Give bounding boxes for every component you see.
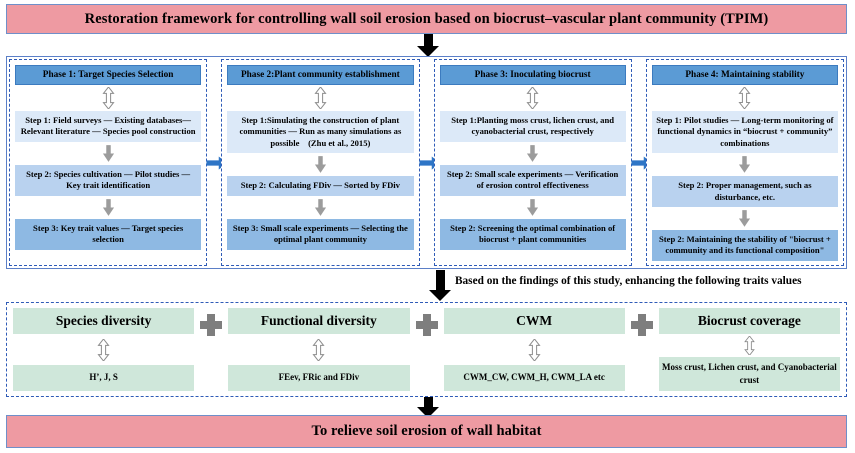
arrow-phases-to-traits: [428, 270, 452, 301]
double-arrow-icon: [528, 339, 541, 361]
diagram-canvas: Restoration framework for controlling wa…: [0, 0, 855, 453]
plus-separator-1: [194, 308, 228, 391]
double-arrow-icon: [738, 87, 751, 109]
phase-3-step-2: Step 2: Small scale experiments — Verifi…: [440, 165, 626, 196]
plus-separator-2: [410, 308, 444, 391]
trait-body: Moss crust, Lichen crust, and Cyanobacte…: [659, 357, 840, 391]
phase-4-step-3: Step 2: Maintaining the stability of "bi…: [652, 230, 838, 261]
plus-icon: [631, 314, 653, 336]
trait-column-biocrust-coverage: Biocrust coverage Moss crust, Lichen cru…: [659, 308, 840, 391]
top-banner: Restoration framework for controlling wa…: [6, 4, 847, 34]
plus-icon: [200, 314, 222, 336]
traits-section: Species diversity H’, J, S Functional di…: [6, 302, 847, 397]
phase-2-header: Phase 2:Plant community establishment: [227, 65, 413, 85]
phase-1-step-3: Step 3: Key trait values — Target specie…: [15, 219, 201, 250]
phase-2-step-2: Step 2: Calculating FDiv — Sorted by FDi…: [227, 176, 413, 196]
phase-1-step-1: Step 1: Field surveys — Existing databas…: [15, 111, 201, 142]
bottom-banner-title: To relieve soil erosion of wall habitat: [312, 423, 542, 440]
top-banner-title: Restoration framework for controlling wa…: [85, 11, 769, 28]
down-arrow-icon: [738, 210, 751, 227]
phase-4-header: Phase 4: Maintaining stability: [652, 65, 838, 85]
phase-4-step-2: Step 2: Proper management, such as distu…: [652, 176, 838, 207]
phase-3-header: Phase 3: Inoculating biocrust: [440, 65, 626, 85]
trait-column-cwm: CWM CWM_CW, CWM_H, CWM_LA etc: [444, 308, 625, 391]
down-arrow-icon: [314, 156, 327, 173]
phase-3-step-3: Step 2: Screening the optimal combinatio…: [440, 219, 626, 250]
trait-column-species-diversity: Species diversity H’, J, S: [13, 308, 194, 391]
phase-1-header: Phase 1: Target Species Selection: [15, 65, 201, 85]
connector-gap-2-3: [420, 59, 434, 266]
phase-2-step-3: Step 3: Small scale experiments — Select…: [227, 219, 413, 250]
trait-body: CWM_CW, CWM_H, CWM_LA etc: [444, 365, 625, 391]
arrow-top-to-phases: [416, 34, 440, 57]
plus-separator-3: [625, 308, 659, 391]
trait-body: H’, J, S: [13, 365, 194, 391]
down-arrow-icon: [526, 145, 539, 162]
connector-gap-1-2: [207, 59, 221, 266]
connector-gap-3-4: [632, 59, 646, 266]
down-arrow-icon: [102, 145, 115, 162]
phase-1-step-2: Step 2: Species cultivation — Pilot stud…: [15, 165, 201, 196]
down-arrow-icon: [314, 199, 327, 216]
phase-section: Phase 1: Target Species Selection Step 1…: [6, 56, 847, 269]
trait-header: CWM: [444, 308, 625, 334]
middle-caption: Based on the findings of this study, enh…: [455, 275, 802, 287]
trait-header: Functional diversity: [228, 308, 409, 334]
trait-header: Biocrust coverage: [659, 308, 840, 334]
double-arrow-icon: [743, 336, 756, 355]
phase-column-4: Phase 4: Maintaining stability Step 1: P…: [646, 59, 844, 266]
plus-icon: [416, 314, 438, 336]
double-arrow-icon: [97, 339, 110, 361]
down-arrow-icon: [738, 156, 751, 173]
phase-3-step-1: Step 1:Planting moss crust, lichen crust…: [440, 111, 626, 142]
trait-header: Species diversity: [13, 308, 194, 334]
double-arrow-icon: [526, 87, 539, 109]
phase-column-1: Phase 1: Target Species Selection Step 1…: [9, 59, 207, 266]
down-arrow-icon: [526, 199, 539, 216]
down-arrow-icon: [102, 199, 115, 216]
phase-4-step-1: Step 1: Pilot studies — Long-term monito…: [652, 111, 838, 154]
trait-column-functional-diversity: Functional diversity FEev, FRic and FDiv: [228, 308, 409, 391]
double-arrow-icon: [314, 87, 327, 109]
trait-body: FEev, FRic and FDiv: [228, 365, 409, 391]
double-arrow-icon: [102, 87, 115, 109]
bottom-banner: To relieve soil erosion of wall habitat: [6, 415, 847, 448]
phase-column-2: Phase 2:Plant community establishment St…: [221, 59, 419, 266]
phase-2-step-1: Step 1:Simulating the construction of pl…: [227, 111, 413, 154]
phase-column-3: Phase 3: Inoculating biocrust Step 1:Pla…: [434, 59, 632, 266]
double-arrow-icon: [312, 339, 325, 361]
